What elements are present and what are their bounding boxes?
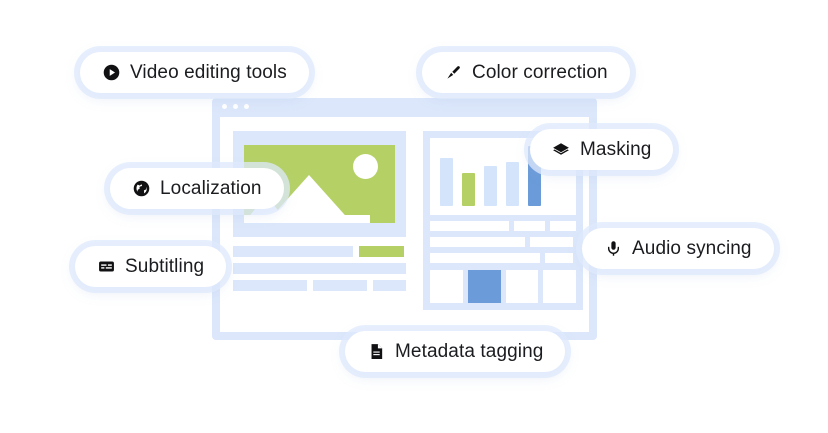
text-placeholder-bar — [514, 221, 546, 231]
feature-pill-audio-syncing[interactable]: Audio syncing — [582, 228, 774, 269]
chart-bar — [484, 166, 497, 206]
chart-bar — [462, 173, 475, 206]
text-row — [430, 253, 576, 263]
feature-pill-video-editing-tools[interactable]: Video editing tools — [80, 52, 309, 93]
thumbnail-cell — [506, 270, 539, 303]
text-row — [233, 280, 406, 291]
feature-pill-localization[interactable]: Localization — [110, 168, 284, 209]
chart-bar — [440, 158, 453, 206]
feature-pill-label: Localization — [160, 179, 262, 198]
text-row — [233, 246, 406, 257]
feature-pill-label: Subtitling — [125, 257, 204, 276]
feature-pill-label: Metadata tagging — [395, 342, 543, 361]
window-dot-minimize-icon — [233, 104, 238, 109]
thumbnail-grid — [430, 270, 576, 303]
text-placeholder-bar — [373, 280, 406, 291]
text-placeholder-bar — [550, 221, 576, 231]
feature-pill-label: Audio syncing — [632, 239, 752, 258]
feature-pill-label: Video editing tools — [130, 63, 287, 82]
feature-pill-label: Color correction — [472, 63, 608, 82]
paintbrush-icon — [444, 64, 462, 82]
text-row — [430, 221, 576, 231]
text-placeholder-bar — [545, 253, 573, 263]
microphone-icon — [604, 240, 622, 258]
globe-icon — [132, 180, 150, 198]
thumbnail-cell-selected — [468, 270, 501, 303]
text-row — [430, 237, 576, 247]
left-content-panel — [233, 131, 406, 297]
text-placeholder-bar — [430, 237, 525, 247]
chart-bar — [506, 162, 519, 206]
window-chrome-bar — [212, 98, 597, 114]
window-dot-maximize-icon — [244, 104, 249, 109]
layers-icon — [552, 141, 570, 159]
feature-pill-masking[interactable]: Masking — [530, 129, 673, 170]
feature-pill-metadata-tagging[interactable]: Metadata tagging — [345, 331, 565, 372]
text-placeholder-bar — [233, 280, 307, 291]
bar-chart-bars — [440, 146, 541, 206]
feature-highlight-illustration: Video editing tools Color correction Mas… — [0, 0, 828, 433]
text-placeholder-bar — [430, 221, 509, 231]
text-placeholder-bar — [430, 253, 540, 263]
accent-highlight-bar — [359, 246, 404, 257]
feature-pill-label: Masking — [580, 140, 651, 159]
text-placeholder-bar — [313, 280, 367, 291]
text-placeholder-bar — [233, 246, 353, 257]
window-dot-close-icon — [222, 104, 227, 109]
thumbnail-cell — [543, 270, 576, 303]
sun-shape-icon — [353, 154, 378, 179]
feature-pill-color-correction[interactable]: Color correction — [422, 52, 630, 93]
feature-pill-subtitling[interactable]: Subtitling — [75, 246, 226, 287]
thumbnail-cell — [430, 270, 463, 303]
text-row — [233, 263, 406, 274]
text-placeholder-bar — [233, 263, 406, 274]
left-text-rows — [233, 246, 406, 291]
play-circle-icon — [102, 64, 120, 82]
text-placeholder-bar — [530, 237, 573, 247]
document-icon — [367, 343, 385, 361]
closed-caption-icon — [97, 258, 115, 276]
